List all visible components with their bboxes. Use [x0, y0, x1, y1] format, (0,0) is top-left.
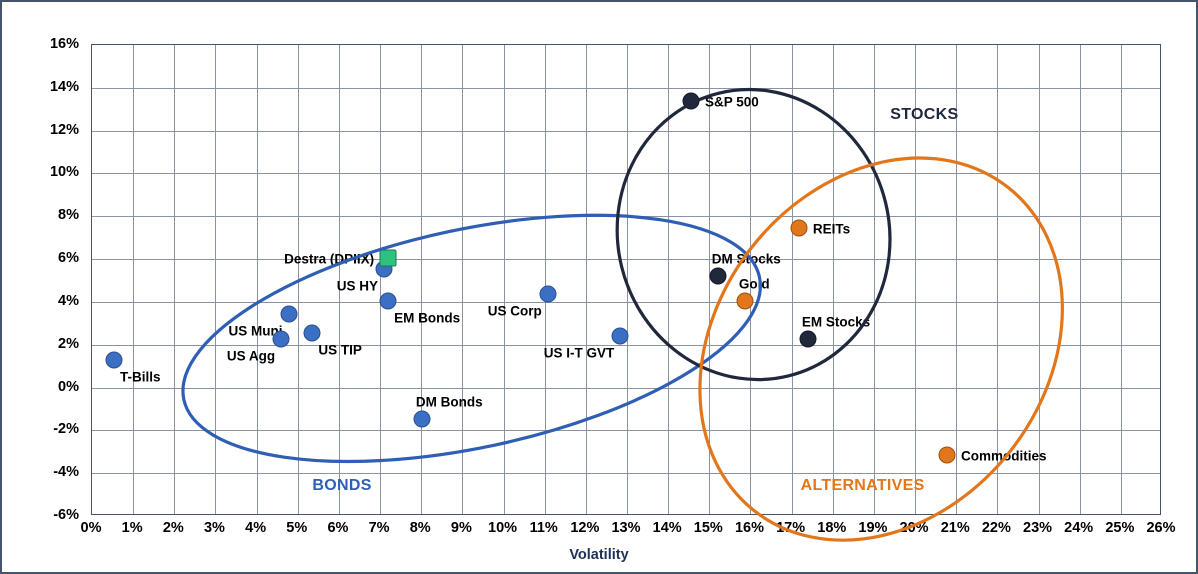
- gridline-horizontal: [92, 216, 1160, 217]
- data-point-us-muni[interactable]: [280, 305, 297, 322]
- gridline-vertical: [133, 45, 134, 514]
- y-axis-tick-label: 4%: [9, 293, 79, 309]
- gridline-horizontal: [92, 345, 1160, 346]
- x-axis-tick-label: 25%: [1105, 520, 1134, 536]
- y-axis-tick-label: -6%: [9, 507, 79, 523]
- x-axis-tick-label: 22%: [982, 520, 1011, 536]
- data-point-us-i-t-gvt[interactable]: [612, 328, 629, 345]
- x-axis-title: Volatility: [2, 547, 1196, 563]
- x-axis-tick-label: 20%: [900, 520, 929, 536]
- gridline-vertical: [833, 45, 834, 514]
- x-axis-tick-label: 11%: [530, 520, 558, 536]
- gridline-vertical: [380, 45, 381, 514]
- gridline-horizontal: [92, 302, 1160, 303]
- y-axis-tick-label: 6%: [9, 250, 79, 266]
- data-point-label-us-tip: US TIP: [318, 343, 362, 358]
- y-axis-tick-label: 2%: [9, 336, 79, 352]
- data-point-label-t-bills: T-Bills: [120, 369, 161, 384]
- y-axis-title: Return: [0, 232, 6, 279]
- x-axis-tick-label: 14%: [653, 520, 682, 536]
- data-point-label-em-stocks: EM Stocks: [802, 315, 870, 330]
- data-point-label-destra-dpiix: Destra (DPIIX): [284, 252, 374, 267]
- data-point-commodities[interactable]: [939, 447, 956, 464]
- x-axis-tick-label: 21%: [941, 520, 970, 536]
- x-axis-tick-label: 7%: [369, 520, 390, 536]
- data-point-dm-stocks[interactable]: [709, 268, 726, 285]
- gridline-vertical: [298, 45, 299, 514]
- data-point-reits[interactable]: [790, 220, 807, 237]
- x-axis-tick-label: 17%: [776, 520, 805, 536]
- gridline-vertical: [792, 45, 793, 514]
- data-point-us-tip[interactable]: [304, 325, 321, 342]
- gridline-horizontal: [92, 430, 1160, 431]
- cluster-label-bonds: BONDS: [312, 477, 371, 495]
- cluster-label-alternatives: ALTERNATIVES: [801, 477, 925, 495]
- y-axis-tick-label: 10%: [9, 164, 79, 180]
- cluster-label-stocks: STOCKS: [890, 106, 958, 124]
- x-axis-tick-label: 0%: [81, 520, 102, 536]
- x-axis-tick-label: 4%: [245, 520, 266, 536]
- gridline-horizontal: [92, 473, 1160, 474]
- data-point-em-bonds[interactable]: [380, 292, 397, 309]
- x-axis-tick-label: 10%: [488, 520, 517, 536]
- data-point-gold[interactable]: [736, 292, 753, 309]
- data-point-label-s-p-500: S&P 500: [705, 94, 759, 109]
- y-axis-tick-label: -2%: [9, 421, 79, 437]
- data-point-label-us-hy: US HY: [337, 278, 378, 293]
- x-axis-tick-label: 13%: [611, 520, 640, 536]
- gridline-vertical: [421, 45, 422, 514]
- data-point-s-p-500[interactable]: [683, 92, 700, 109]
- y-axis-tick-label: 0%: [9, 379, 79, 395]
- x-axis-tick-label: 15%: [694, 520, 723, 536]
- x-axis-tick-label: 3%: [204, 520, 225, 536]
- gridline-horizontal: [92, 173, 1160, 174]
- x-axis-tick-label: 9%: [451, 520, 472, 536]
- gridline-vertical: [257, 45, 258, 514]
- x-axis-tick-label: 18%: [817, 520, 846, 536]
- gridline-vertical: [586, 45, 587, 514]
- data-point-t-bills[interactable]: [106, 351, 123, 368]
- x-axis-tick-label: 23%: [1023, 520, 1052, 536]
- data-point-label-em-bonds: EM Bonds: [394, 310, 460, 325]
- data-point-label-us-agg: US Agg: [227, 349, 275, 364]
- gridline-horizontal: [92, 131, 1160, 132]
- data-point-label-dm-stocks: DM Stocks: [712, 252, 781, 267]
- x-axis-tick-label: 26%: [1146, 520, 1175, 536]
- x-axis-tick-label: 12%: [570, 520, 599, 536]
- data-point-us-agg[interactable]: [273, 331, 290, 348]
- gridline-vertical: [668, 45, 669, 514]
- plot-area: [91, 44, 1161, 515]
- y-axis-tick-label: 16%: [9, 36, 79, 52]
- gridline-vertical: [545, 45, 546, 514]
- x-axis-tick-label: 8%: [410, 520, 431, 536]
- x-axis-tick-label: 1%: [122, 520, 143, 536]
- gridline-horizontal: [92, 388, 1160, 389]
- scatter-chart: Return 16%14%12%10%8%6%4%2%0%-2%-4%-6%0%…: [0, 0, 1198, 574]
- gridline-horizontal: [92, 88, 1160, 89]
- gridline-vertical: [627, 45, 628, 514]
- x-axis-tick-label: 16%: [735, 520, 764, 536]
- data-point-destra-dpiix[interactable]: [380, 250, 397, 267]
- y-axis-tick-label: 14%: [9, 79, 79, 95]
- gridline-vertical: [1121, 45, 1122, 514]
- gridline-vertical: [874, 45, 875, 514]
- data-point-label-us-corp: US Corp: [488, 304, 542, 319]
- gridline-vertical: [504, 45, 505, 514]
- x-axis-tick-label: 19%: [858, 520, 887, 536]
- data-point-em-stocks[interactable]: [799, 331, 816, 348]
- data-point-dm-bonds[interactable]: [413, 410, 430, 427]
- gridline-vertical: [215, 45, 216, 514]
- x-axis-tick-label: 6%: [327, 520, 348, 536]
- gridline-horizontal: [92, 259, 1160, 260]
- x-axis-tick-label: 5%: [286, 520, 307, 536]
- data-point-label-reits: REITs: [813, 222, 850, 237]
- data-point-label-us-i-t-gvt: US I-T GVT: [544, 346, 615, 361]
- y-axis-tick-label: -4%: [9, 464, 79, 480]
- data-point-label-dm-bonds: DM Bonds: [416, 394, 483, 409]
- data-point-label-commodities: Commodities: [961, 449, 1047, 464]
- y-axis-tick-label: 8%: [9, 207, 79, 223]
- gridline-vertical: [462, 45, 463, 514]
- gridline-vertical: [1039, 45, 1040, 514]
- data-point-us-corp[interactable]: [539, 286, 556, 303]
- data-point-label-gold: Gold: [739, 276, 770, 291]
- gridline-vertical: [174, 45, 175, 514]
- gridline-vertical: [997, 45, 998, 514]
- y-axis-tick-label: 12%: [9, 122, 79, 138]
- gridline-vertical: [1080, 45, 1081, 514]
- x-axis-tick-label: 24%: [1064, 520, 1093, 536]
- x-axis-tick-label: 2%: [163, 520, 184, 536]
